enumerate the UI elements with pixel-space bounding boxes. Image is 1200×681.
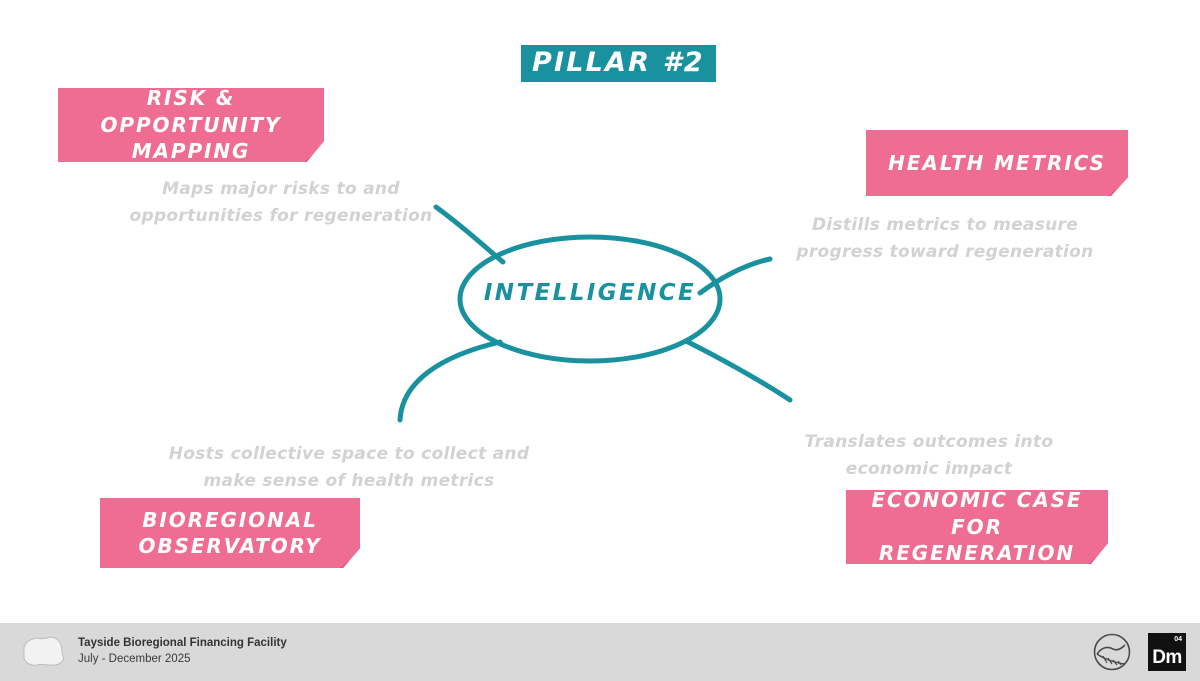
node-caption-bioregional-observatory: Hosts collective space to collect and ma…: [158, 441, 540, 494]
corner-fold-icon: [1108, 180, 1128, 196]
node-label: ECONOMIC CASE FOR REGENERATION: [864, 487, 1090, 566]
footer-text-group: Tayside Bioregional Financing Facility J…: [78, 636, 287, 667]
node-tag-economic-case-for-regeneration[interactable]: ECONOMIC CASE FOR REGENERATION: [846, 490, 1108, 564]
landscape-circle-logo: [1092, 632, 1132, 672]
node-caption-economic-case-for-regeneration: Translates outcomes into economic impact: [790, 429, 1068, 482]
corner-fold-icon: [1088, 548, 1108, 564]
corner-fold-icon: [304, 146, 324, 162]
node-tag-bioregional-observatory[interactable]: BIOREGIONAL OBSERVATORY: [100, 498, 360, 568]
center-node-label: INTELLIGENCE: [462, 282, 718, 305]
dm-brand-tile: 04 Dm: [1148, 633, 1186, 671]
corner-fold-icon: [340, 552, 360, 568]
pillar-title-box: PILLAR #2: [521, 45, 716, 82]
connector-bottom-left: [400, 342, 500, 420]
dm-brand-label: Dm: [1152, 648, 1182, 671]
footer-bar: Tayside Bioregional Financing Facility J…: [0, 623, 1200, 681]
footer-title: Tayside Bioregional Financing Facility: [78, 636, 287, 652]
page-title: PILLAR #2: [532, 49, 705, 76]
connector-bottom-right: [686, 341, 790, 400]
footer-brand-group: 04 Dm: [1092, 632, 1186, 672]
node-label: RISK & OPPORTUNITY MAPPING: [76, 85, 306, 164]
node-tag-health-metrics[interactable]: HEALTH METRICS: [866, 130, 1128, 196]
node-label: BIOREGIONAL OBSERVATORY: [118, 507, 342, 560]
node-label: HEALTH METRICS: [888, 150, 1106, 176]
node-tag-risk-opportunity-mapping[interactable]: RISK & OPPORTUNITY MAPPING: [58, 88, 324, 162]
map-outline-icon: [14, 631, 70, 673]
dm-brand-number: 04: [1174, 636, 1182, 643]
node-caption-risk-opportunity-mapping: Maps major risks to and opportunities fo…: [118, 176, 444, 229]
node-caption-health-metrics: Distills metrics to measure progress tow…: [796, 212, 1094, 265]
slide-canvas: PILLAR #2 INTELLIGENCE RISK & OPPORTUNIT…: [0, 0, 1200, 681]
connector-top-left: [436, 207, 503, 262]
footer-subtitle: July - December 2025: [78, 652, 287, 668]
